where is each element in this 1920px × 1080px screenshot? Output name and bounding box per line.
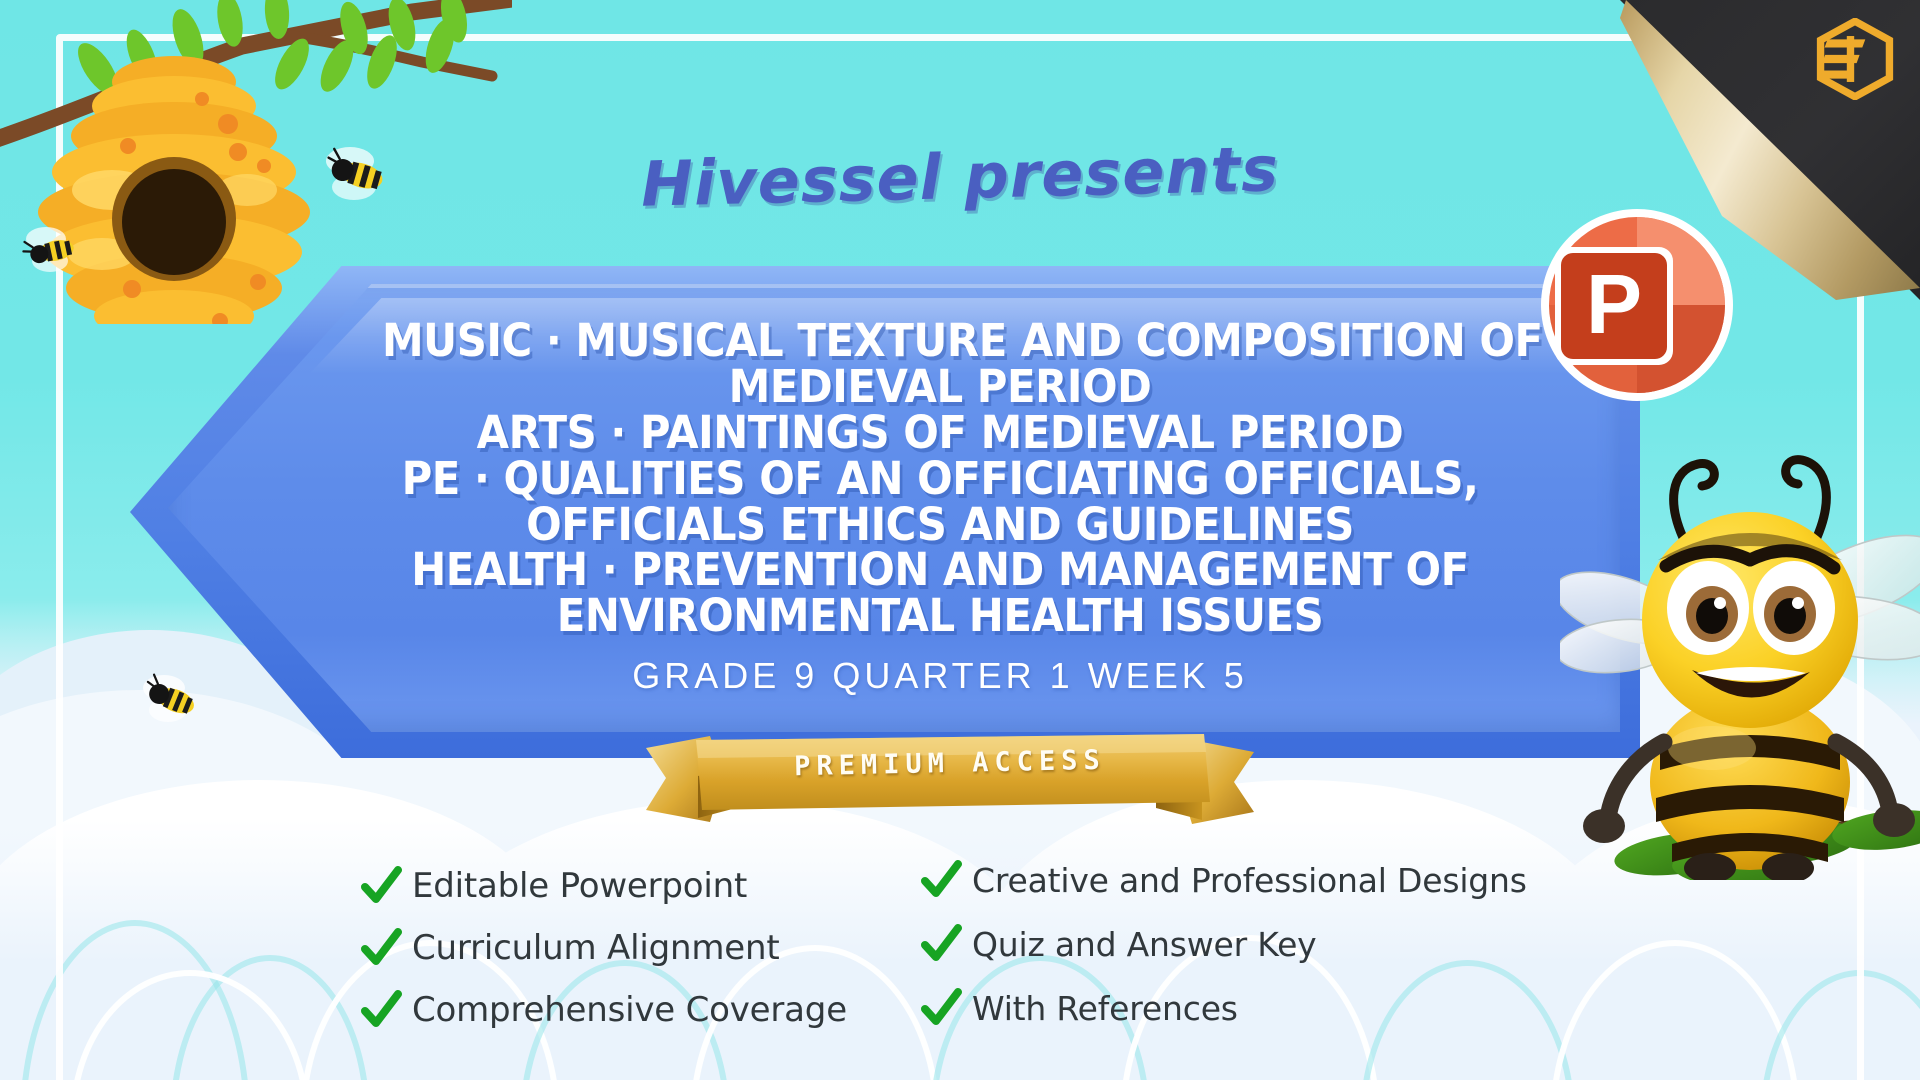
bee-mascot-icon	[1560, 430, 1920, 880]
list-item: With References	[920, 987, 1540, 1029]
banner-text-block: MUSIC · MUSICAL TEXTURE AND COMPOSITION …	[340, 318, 1540, 697]
feature-label: Creative and Professional Designs	[972, 861, 1527, 900]
bee-icon	[20, 225, 82, 280]
feature-label: Comprehensive Coverage	[412, 990, 847, 1030]
feature-column-right: Creative and Professional Designs Quiz a…	[920, 859, 1540, 1031]
subject-lines: MUSIC · MUSICAL TEXTURE AND COMPOSITION …	[340, 318, 1540, 639]
check-icon	[360, 865, 402, 907]
check-icon	[920, 859, 962, 901]
subject-line: MEDIEVAL PERIOD	[382, 364, 1498, 410]
check-icon	[360, 989, 402, 1031]
bee-icon	[320, 145, 392, 208]
powerpoint-letter: P	[1586, 257, 1642, 351]
powerpoint-icon: P	[1525, 205, 1740, 420]
list-item: Editable Powerpoint	[360, 865, 920, 907]
subject-line: MUSIC · MUSICAL TEXTURE AND COMPOSITION …	[382, 318, 1498, 364]
feature-list: Editable Powerpoint Curriculum Alignment…	[360, 865, 1640, 1031]
subject-line: PE · QUALITIES OF AN OFFICIATING OFFICIA…	[382, 456, 1498, 502]
grade-level-label: GRADE 9 QUARTER 1 WEEK 5	[340, 655, 1540, 697]
list-item: Quiz and Answer Key	[920, 923, 1540, 965]
feature-label: With References	[972, 989, 1238, 1028]
hexagon-bee-logo	[1814, 18, 1896, 100]
slide-canvas: Hivessel presents MUSIC · MUSICAL TEXTUR…	[0, 0, 1920, 1080]
list-item: Curriculum Alignment	[360, 927, 920, 969]
subject-line: OFFICIALS ETHICS AND GUIDELINES	[382, 502, 1498, 548]
subject-line: ARTS · PAINTINGS OF MEDIEVAL PERIOD	[382, 410, 1498, 456]
check-icon	[920, 923, 962, 965]
list-item: Comprehensive Coverage	[360, 989, 920, 1031]
feature-label: Quiz and Answer Key	[972, 925, 1317, 964]
bee-icon	[138, 672, 204, 731]
check-icon	[360, 927, 402, 969]
feature-label: Editable Powerpoint	[412, 866, 747, 906]
check-icon	[920, 987, 962, 1029]
title-banner: MUSIC · MUSICAL TEXTURE AND COMPOSITION …	[140, 258, 1640, 758]
subject-line: ENVIRONMENTAL HEALTH ISSUES	[382, 593, 1498, 639]
list-item: Creative and Professional Designs	[920, 859, 1540, 901]
subject-line: HEALTH · PREVENTION AND MANAGEMENT OF	[382, 547, 1498, 593]
feature-column-left: Editable Powerpoint Curriculum Alignment…	[360, 865, 920, 1031]
feature-label: Curriculum Alignment	[412, 928, 779, 968]
premium-ribbon: PREMIUM ACCESS	[640, 718, 1260, 838]
